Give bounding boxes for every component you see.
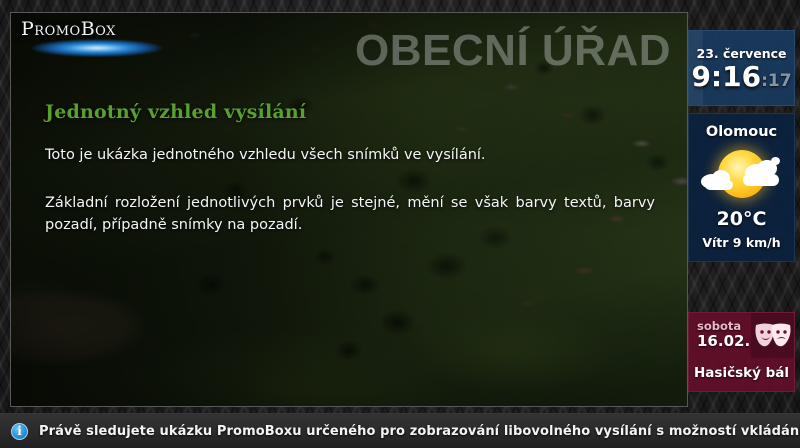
event-title: Hasičský bál: [689, 358, 794, 381]
article-paragraph-2: Základní rozložení jednotlivých prvků je…: [45, 193, 655, 237]
ticker-text: Právě sledujete ukázku PromoBoxu určenéh…: [39, 424, 800, 439]
article-block: Jednotný vzhled vysílání Toto je ukázka …: [45, 101, 655, 236]
weather-widget: Olomouc 20°C Vítr 9 km/h: [688, 113, 795, 262]
clock: 9:16 :17: [691, 63, 791, 91]
cloud-icon: [743, 174, 779, 186]
theater-masks-glyph: [753, 322, 793, 349]
event-header: sobota 16.02.: [689, 313, 794, 358]
promobox-logo: PromoBox: [19, 15, 209, 59]
info-ticker-bar: i Právě sledujete ukázku PromoBoxu určen…: [0, 413, 800, 448]
event-date: 16.02.: [697, 333, 751, 350]
article-heading: Jednotný vzhled vysílání: [45, 101, 655, 123]
cloud-icon: [705, 180, 733, 190]
page-title: OBECNÍ ÚŘAD: [355, 29, 671, 73]
broadcast-screen: PromoBox OBECNÍ ÚŘAD Jednotný vzhled vys…: [0, 0, 800, 448]
info-icon: i: [11, 423, 28, 440]
event-widget: sobota 16.02. Hasičský bál: [688, 312, 795, 392]
datetime-widget: 23. července 9:16 :17: [688, 30, 795, 106]
weather-temperature: 20°C: [717, 208, 767, 230]
logo-text: PromoBox: [21, 18, 116, 40]
current-date: 23. července: [697, 46, 787, 61]
event-date-block: sobota 16.02.: [689, 313, 751, 358]
weather-wind: Vítr 9 km/h: [702, 235, 780, 250]
cloud-icon: [771, 157, 780, 165]
theater-masks-icon: [751, 313, 794, 358]
article-paragraph-1: Toto je ukázka jednotného vzhledu všech …: [45, 145, 655, 167]
weather-city: Olomouc: [706, 124, 777, 140]
sun-behind-cloud-icon: [699, 144, 785, 204]
content-panel: PromoBox OBECNÍ ÚŘAD Jednotný vzhled vys…: [10, 12, 688, 407]
clock-hours-minutes: 9:16: [691, 63, 761, 91]
clock-seconds: :17: [761, 73, 791, 90]
